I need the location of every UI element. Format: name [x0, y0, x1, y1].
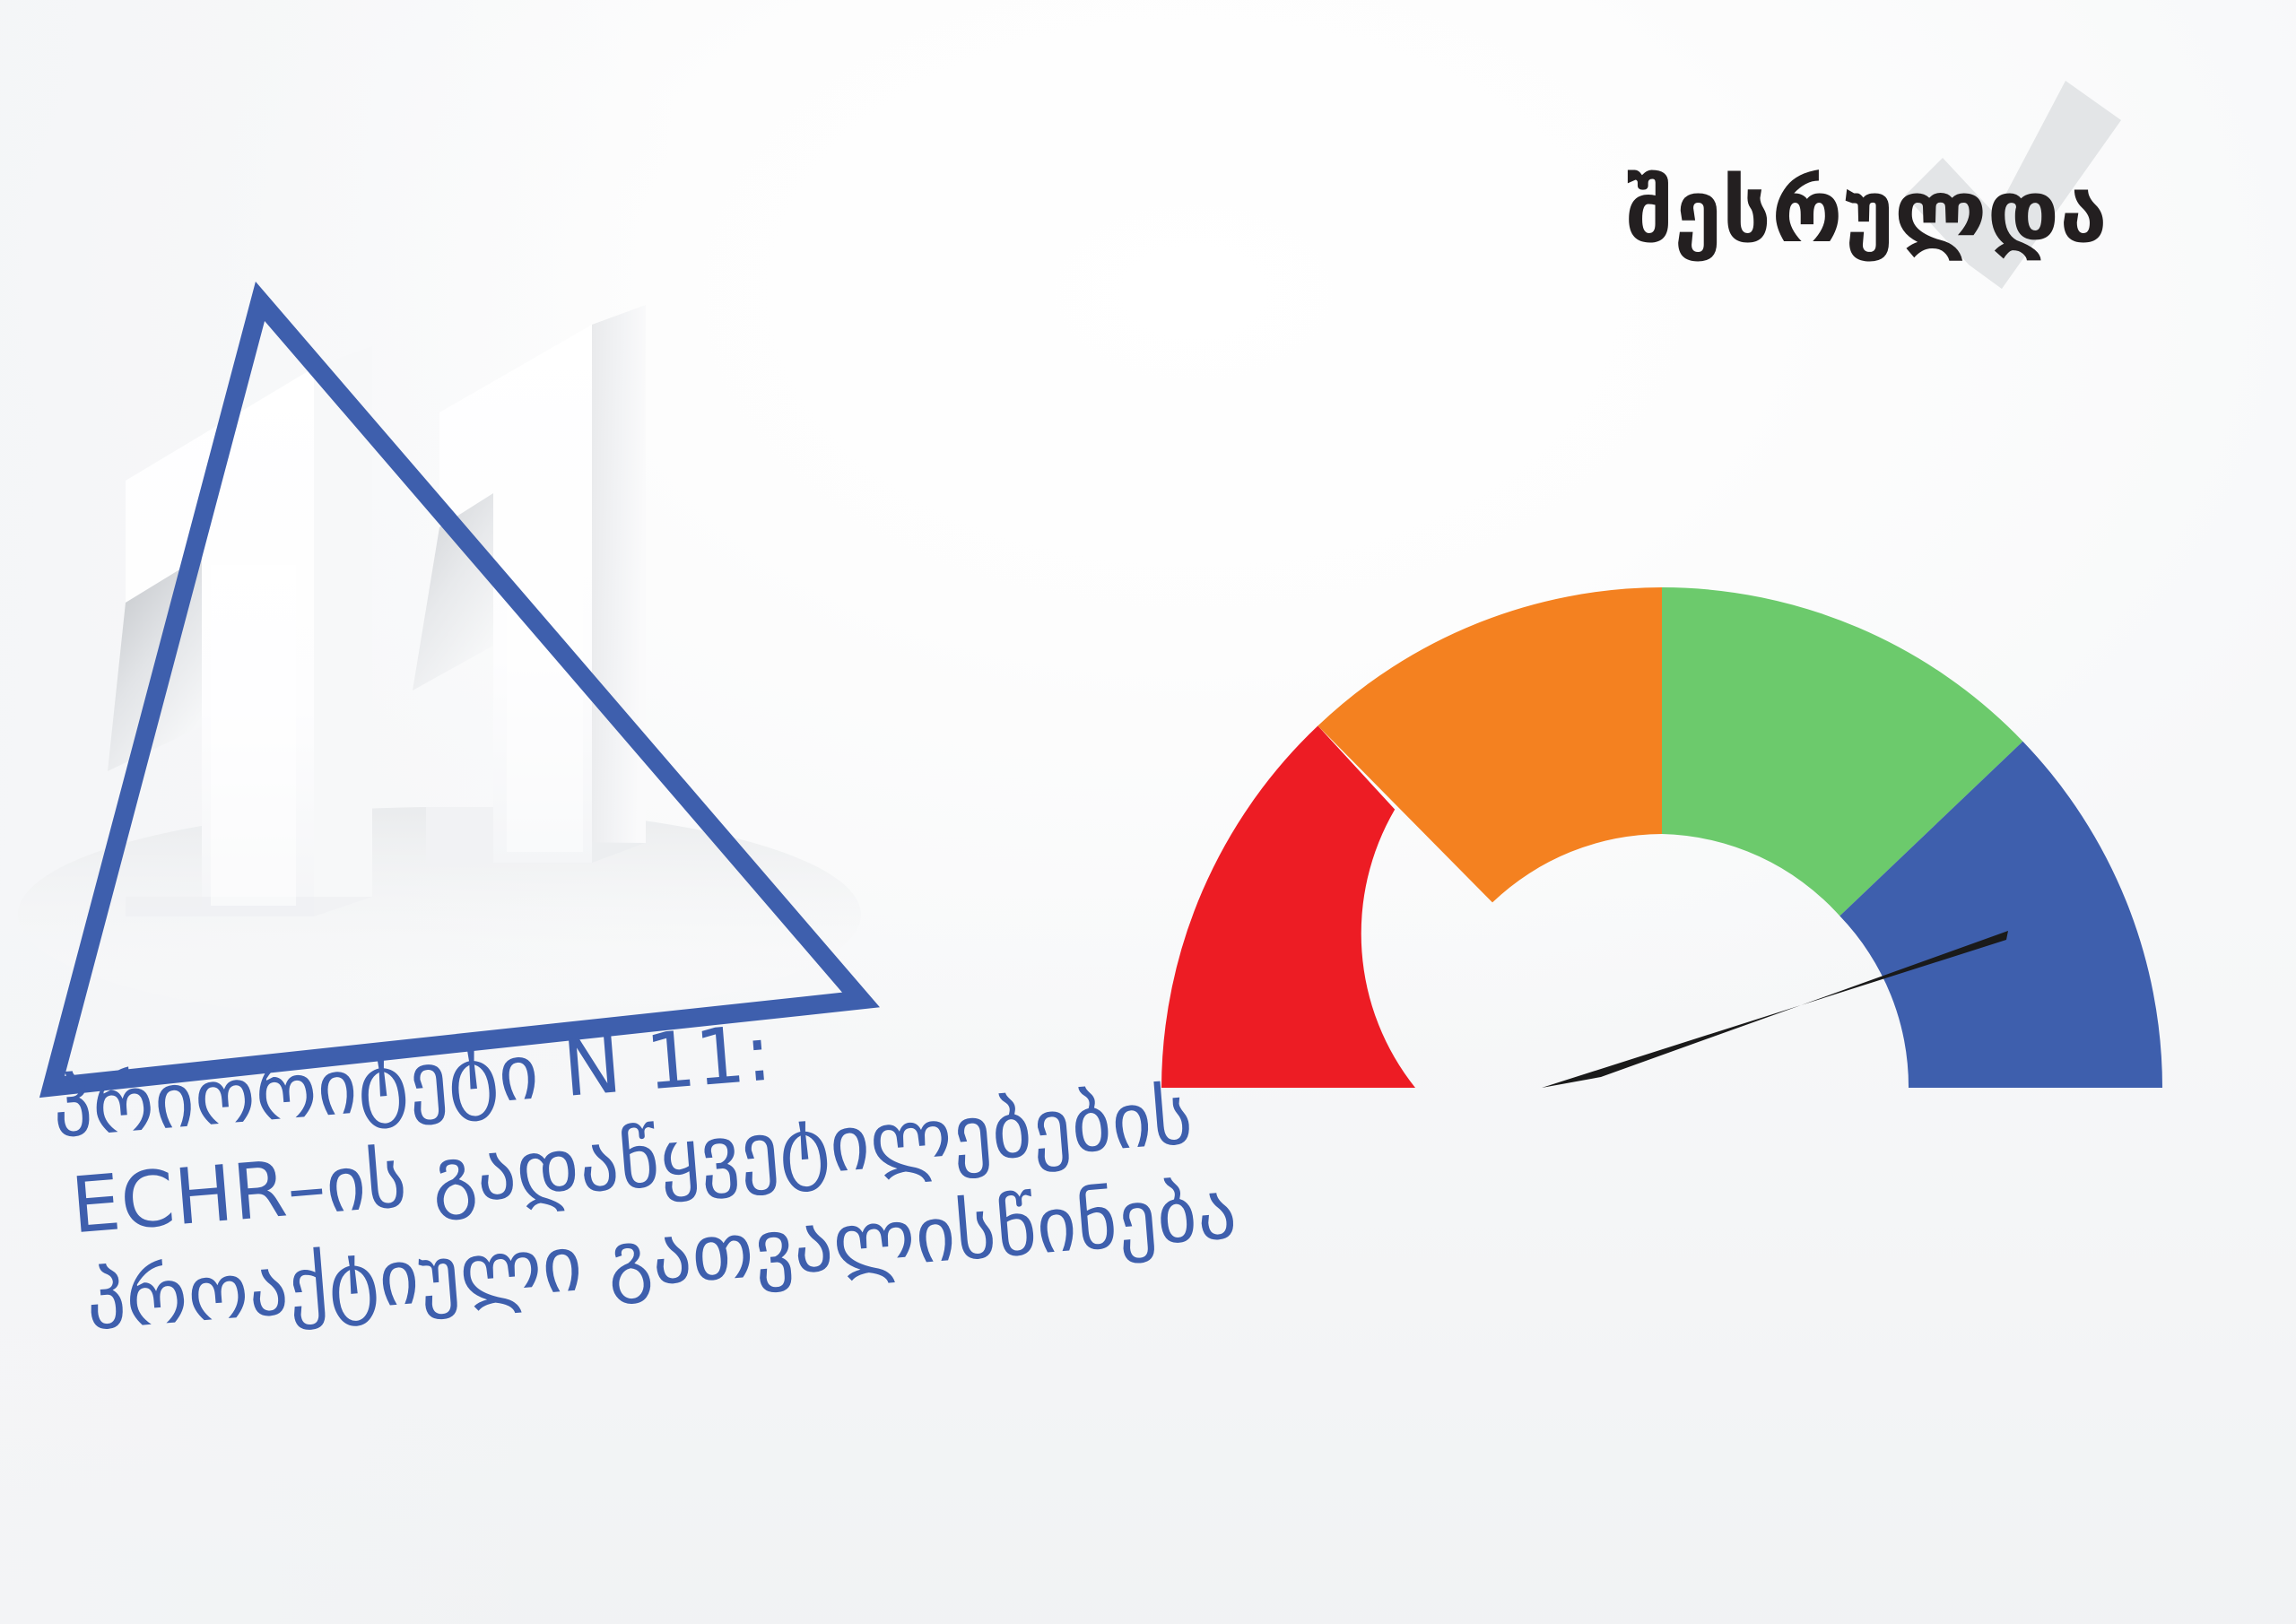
status-badge: შესრულდა	[1605, 135, 2251, 332]
status-label: შესრულდა	[1605, 167, 2108, 257]
slide-canvas: შესრულდა პრიორიტეტი N 11: ECHR–ის გადაწყ…	[0, 0, 2296, 1624]
